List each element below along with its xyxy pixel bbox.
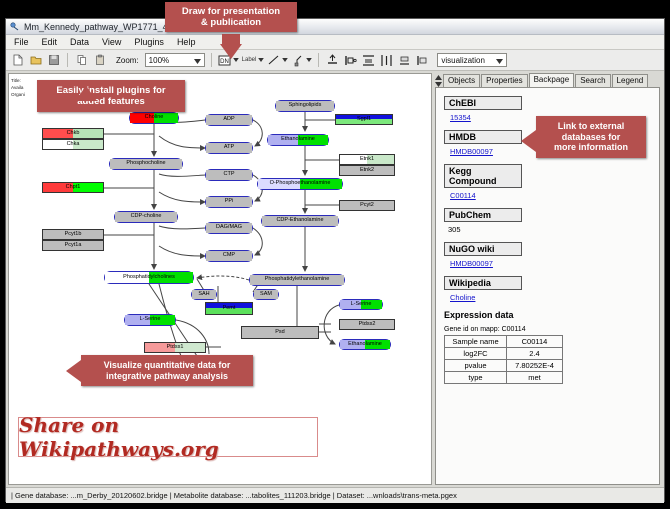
gene-node-chka[interactable]: Chka	[42, 139, 104, 150]
metabolite-node-phosphatidylcholines[interactable]: Phosphatidylcholines	[104, 271, 194, 284]
menu-edit[interactable]: Edit	[40, 37, 60, 47]
node-label: Phosphocholine	[126, 161, 165, 167]
node-label: Phosphatidylethanolamine	[265, 277, 330, 283]
metabolite-node-choline-top[interactable]: Choline	[129, 112, 179, 124]
visualization-combo[interactable]: visualization	[437, 53, 507, 67]
plugins-callout: Easily install plugins for added feature…	[37, 80, 185, 112]
tab-scroll-buttons[interactable]	[435, 75, 442, 87]
tab-properties[interactable]: Properties	[481, 74, 527, 87]
stack-icon[interactable]	[397, 53, 412, 68]
order-icon[interactable]	[415, 53, 430, 68]
save-icon[interactable]	[46, 53, 61, 68]
node-label: Chpt1	[66, 185, 81, 191]
node-label: CDP-choline	[131, 214, 162, 220]
node-label: Sphingolipids	[289, 103, 322, 109]
node-label: SAH	[198, 292, 209, 298]
menu-help[interactable]: Help	[175, 37, 198, 47]
gene-node-chkb[interactable]: Chkb	[42, 128, 104, 139]
draw-callout: Draw for presentation & publication	[165, 2, 297, 32]
node-label: ATP	[224, 145, 234, 151]
gene-node-ptdss1[interactable]: Ptdss1	[144, 342, 206, 353]
node-label: Ethanolamine	[281, 137, 315, 143]
node-label: Pcyt2	[360, 203, 374, 209]
visualization-value: visualization	[441, 56, 485, 65]
metabolite-node-ethanolamine[interactable]: Ethanolamine	[267, 134, 329, 146]
svg-text:DN: DN	[220, 59, 229, 65]
metabolite-node-adp[interactable]: ADP	[205, 114, 253, 126]
link-callout-line-1: Link to external	[540, 121, 642, 132]
db-header-wikipedia: Wikipedia	[444, 276, 522, 290]
metabolite-node-ppi[interactable]: PPi	[205, 196, 253, 208]
node-label: CDP-Ethanolamine	[276, 218, 323, 224]
db-value-wikipedia[interactable]: Choline	[450, 293, 651, 302]
metabolite-node-cdp-choline[interactable]: CDP-choline	[114, 211, 178, 223]
node-label: Ethanolamine	[348, 342, 382, 348]
link-callout: Link to external databases for more info…	[536, 116, 646, 158]
share-banner: Share on Wikipathways.org	[18, 417, 318, 457]
metabolite-node-sam[interactable]: SAM	[253, 289, 279, 300]
gene-node-chpt1[interactable]: Chpt1	[42, 182, 104, 193]
chevron-down-icon	[496, 59, 503, 64]
share-banner-text: Share on Wikipathways.org	[19, 413, 317, 461]
node-label: L-Serine	[351, 302, 372, 308]
metabolite-node-sphingolipids[interactable]: Sphingolipids	[275, 100, 335, 112]
node-fill-right	[280, 327, 318, 338]
db-value-kegg-compound[interactable]: C00114	[450, 191, 651, 200]
metabolite-node-cdp-ethanolamine[interactable]: CDP-Ethanolamine	[261, 215, 339, 227]
label-tool[interactable]: Label	[242, 57, 265, 63]
status-bar: | Gene database: ...m_Derby_20120602.bri…	[6, 487, 664, 503]
status-text: | Gene database: ...m_Derby_20120602.bri…	[11, 491, 457, 500]
metabolite-node-dagmag[interactable]: DAG/MAG	[205, 222, 253, 234]
gene-node-ptdss2[interactable]: Ptdss2	[339, 319, 395, 330]
open-icon[interactable]	[28, 53, 43, 68]
draw-callout-arrow	[220, 44, 242, 59]
plugins-callout-line-2: added features	[41, 96, 181, 107]
db-header-hmdb: HMDB	[444, 130, 522, 144]
expression-value: C00114	[507, 336, 563, 348]
gene-node-sgpl1[interactable]: Sgpl1	[335, 114, 393, 125]
toolbar-separator	[318, 53, 319, 67]
menu-data[interactable]: Data	[68, 37, 91, 47]
node-label: CMP	[223, 253, 235, 259]
menu-bar: File Edit Data View Plugins Help	[6, 35, 664, 50]
chevron-down-icon	[258, 58, 264, 62]
node-label: SAM	[260, 292, 272, 298]
tab-search[interactable]: Search	[575, 74, 610, 87]
expression-row: typemet	[445, 372, 563, 384]
expression-row: Sample nameC00114	[445, 336, 563, 348]
toolbar-separator	[211, 53, 212, 67]
node-label: Pcyt1a	[65, 243, 82, 249]
toolbar: Zoom: 100% DN Label	[6, 50, 664, 71]
metabolite-node-o-phosphoethanolamine[interactable]: O-Phosphoethanolamine	[257, 178, 343, 190]
gene-node-etnk2[interactable]: Etnk2	[339, 165, 395, 176]
distribute-horizontal-icon[interactable]	[379, 53, 394, 68]
gene-node-pcyt1a[interactable]: Pcyt1a	[42, 240, 104, 251]
distribute-vertical-icon[interactable]	[361, 53, 376, 68]
align-left-icon[interactable]	[343, 53, 358, 68]
metabolite-node-phosphatidylethanolamine[interactable]: Phosphatidylethanolamine	[249, 274, 345, 286]
expression-value: 7.80252E-4	[507, 360, 563, 372]
expression-table: Sample nameC00114log2FC2.4pvalue7.80252E…	[444, 335, 563, 384]
metabolite-node-sah[interactable]: SAH	[191, 289, 217, 300]
expression-value: 2.4	[507, 348, 563, 360]
expression-data-title: Expression data	[444, 310, 651, 320]
gene-node-pemt[interactable]: Pemt	[205, 302, 253, 315]
plugins-callout-line-1: Easily install plugins for	[41, 85, 181, 96]
menu-view[interactable]: View	[100, 37, 123, 47]
node-label: Choline	[145, 115, 164, 121]
metabolite-node-cmp[interactable]: CMP	[205, 250, 253, 262]
node-label: Chkb	[67, 131, 80, 137]
title-bar: Mm_Kennedy_pathway_WP1771_45176.gpml	[6, 19, 664, 35]
zoom-label: Zoom:	[116, 56, 139, 65]
connector-icon	[291, 54, 304, 67]
expression-key: pvalue	[445, 360, 507, 372]
gene-node-pcyt2[interactable]: Pcyt2	[339, 200, 395, 211]
connector-tool[interactable]	[291, 54, 312, 67]
db-header-pubchem: PubChem	[444, 208, 522, 222]
node-label: Etnk2	[360, 168, 374, 174]
paste-icon[interactable]	[92, 53, 107, 68]
metabolite-node-ctp[interactable]: CTP	[205, 169, 253, 181]
expression-key: type	[445, 372, 507, 384]
expression-key: Sample name	[445, 336, 507, 348]
line-icon	[267, 54, 280, 67]
copy-icon[interactable]	[74, 53, 89, 68]
link-callout-arrow	[521, 130, 536, 152]
menu-plugins[interactable]: Plugins	[132, 37, 166, 47]
db-value-pubchem: 305	[448, 225, 651, 234]
node-label: Pemt	[223, 306, 236, 312]
backpage-content: ChEBI15354HMDBHMDB00097Kegg CompoundC001…	[435, 87, 660, 485]
expression-key: log2FC	[445, 348, 507, 360]
node-label: ADP	[223, 117, 234, 123]
node-label: Psd	[275, 330, 284, 336]
gene-id-line: Gene id on mapp: C00114	[444, 326, 651, 333]
node-label: DAG/MAG	[216, 225, 242, 231]
metabolite-node-l-serine-right[interactable]: L-Serine	[339, 299, 383, 310]
node-label: Etnk1	[360, 157, 374, 163]
tab-legend[interactable]: Legend	[612, 74, 649, 87]
node-label: O-Phosphoethanolamine	[270, 181, 331, 187]
db-value-nugo-wiki[interactable]: HMDB00097	[450, 259, 651, 268]
draw-callout-line-1: Draw for presentation	[169, 6, 293, 17]
expression-value: met	[507, 372, 563, 384]
chevron-down-icon	[306, 58, 312, 62]
pathvisio-icon	[10, 22, 20, 32]
node-label: Sgpl1	[357, 117, 371, 123]
metabolite-node-ethanolamine-right[interactable]: Ethanolamine	[339, 339, 391, 350]
node-label: Pcyt1b	[65, 232, 82, 238]
expression-row: log2FC2.4	[445, 348, 563, 360]
node-label: Ptdss1	[167, 345, 184, 351]
node-label: Ptdss2	[359, 322, 376, 328]
align-top-icon[interactable]	[325, 53, 340, 68]
line-tool[interactable]	[267, 54, 288, 67]
node-label: Chka	[67, 142, 80, 148]
zoom-combo[interactable]: 100%	[145, 53, 205, 67]
db-header-nugo-wiki: NuGO wiki	[444, 242, 522, 256]
link-callout-line-2: databases for	[540, 132, 642, 143]
gene-node-etnk1[interactable]: Etnk1	[339, 154, 395, 165]
metabolite-node-atp[interactable]: ATP	[205, 142, 253, 154]
node-label: CTP	[224, 172, 235, 178]
side-panel: Objects Properties Backpage Search Legen…	[435, 73, 660, 485]
toolbar-separator	[67, 53, 68, 67]
chevron-down-icon	[282, 58, 288, 62]
gene-node-psd[interactable]: Psd	[241, 326, 319, 339]
chevron-up-icon	[435, 75, 442, 80]
db-header-chebi: ChEBI	[444, 96, 522, 110]
link-callout-line-3: more information	[540, 142, 642, 153]
metabolite-node-l-serine-left[interactable]: L-Serine	[124, 314, 176, 326]
side-tabstrip: Objects Properties Backpage Search Legen…	[435, 73, 660, 87]
tab-backpage[interactable]: Backpage	[529, 73, 575, 87]
metabolite-node-phosphocholine[interactable]: Phosphocholine	[109, 158, 183, 170]
menu-file[interactable]: File	[12, 37, 31, 47]
draw-callout-line-2: & publication	[169, 17, 293, 28]
zoom-value: 100%	[149, 56, 169, 65]
visualize-callout-line-1: Visualize quantitative data for	[85, 360, 249, 371]
expression-row: pvalue7.80252E-4	[445, 360, 563, 372]
visualize-callout-arrow	[66, 360, 81, 382]
node-label: L-Serine	[140, 317, 161, 323]
db-header-kegg-compound: Kegg Compound	[444, 164, 522, 188]
node-label: Phosphatidylcholines	[123, 275, 175, 281]
gene-node-pcyt1b[interactable]: Pcyt1b	[42, 229, 104, 240]
label-tool-text: Label	[242, 57, 257, 63]
plugins-callout-arrow	[75, 86, 97, 101]
visualize-callout-line-2: integrative pathway analysis	[85, 371, 249, 382]
new-icon[interactable]	[10, 53, 25, 68]
node-label: PPi	[225, 199, 234, 205]
visualize-callout: Visualize quantitative data for integrat…	[81, 355, 253, 386]
chevron-down-icon	[194, 59, 201, 64]
tab-objects[interactable]: Objects	[443, 74, 480, 87]
